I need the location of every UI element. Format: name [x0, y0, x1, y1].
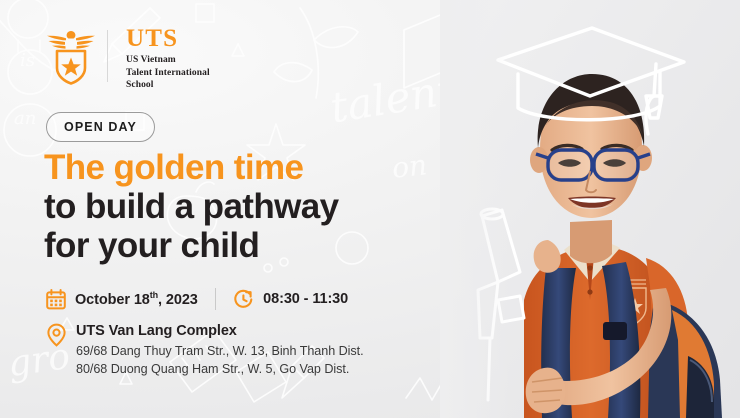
- calendar-icon: [46, 289, 66, 310]
- uts-logo[interactable]: UTS US Vietnam Talent International Scho…: [44, 26, 210, 92]
- uts-shield-eagle-star-logo-icon: [44, 26, 98, 86]
- open-day-banner: talent care gro Le tal is an on e: [0, 0, 740, 418]
- logo-tagline-line-3: School: [126, 79, 210, 92]
- location-details: UTS Van Lang Complex 69/68 Dang Thuy Tra…: [76, 322, 364, 379]
- headline-line-2: to build a pathway: [44, 187, 444, 226]
- event-location: UTS Van Lang Complex 69/68 Dang Thuy Tra…: [46, 322, 364, 379]
- logo-tagline-line-1: US Vietnam: [126, 54, 210, 67]
- banner-content: UTS US Vietnam Talent International Scho…: [44, 0, 464, 418]
- logo-divider: [107, 30, 108, 82]
- logo-wordmark: UTS US Vietnam Talent International Scho…: [126, 26, 210, 92]
- event-time: 08:30 - 11:30: [233, 289, 348, 310]
- event-date-ordinal: th: [150, 290, 158, 300]
- location-address-line-2: 80/68 Duong Quang Ham Str., W. 5, Go Vap…: [76, 360, 364, 379]
- doodle-word: an: [14, 108, 36, 129]
- headline-line-1: The golden time: [44, 148, 444, 187]
- logo-uts-text: UTS: [126, 26, 210, 51]
- logo-tagline: US Vietnam Talent International School: [126, 54, 210, 92]
- event-date: October 18th, 2023: [46, 289, 198, 310]
- doodle-word: is: [20, 50, 35, 71]
- event-date-monthday: October 18: [75, 292, 150, 308]
- meta-divider: [215, 288, 216, 310]
- logo-tagline-line-2: Talent International: [126, 67, 210, 80]
- location-address-line-1: 69/68 Dang Thuy Tram Str., W. 13, Binh T…: [76, 342, 364, 361]
- clock-icon: [233, 289, 254, 310]
- event-date-year: , 2023: [158, 292, 198, 308]
- headline-line-3: for your child: [44, 226, 444, 265]
- event-date-text: October 18th, 2023: [75, 290, 198, 308]
- map-pin-icon: [46, 323, 67, 347]
- event-meta: October 18th, 2023 08:30 - 11:30: [46, 288, 348, 310]
- student-photo: [440, 0, 740, 418]
- open-day-badge: OPEN DAY: [46, 112, 155, 142]
- page-title: The golden time to build a pathway for y…: [44, 148, 444, 266]
- event-time-text: 08:30 - 11:30: [263, 291, 348, 307]
- location-venue: UTS Van Lang Complex: [76, 322, 364, 342]
